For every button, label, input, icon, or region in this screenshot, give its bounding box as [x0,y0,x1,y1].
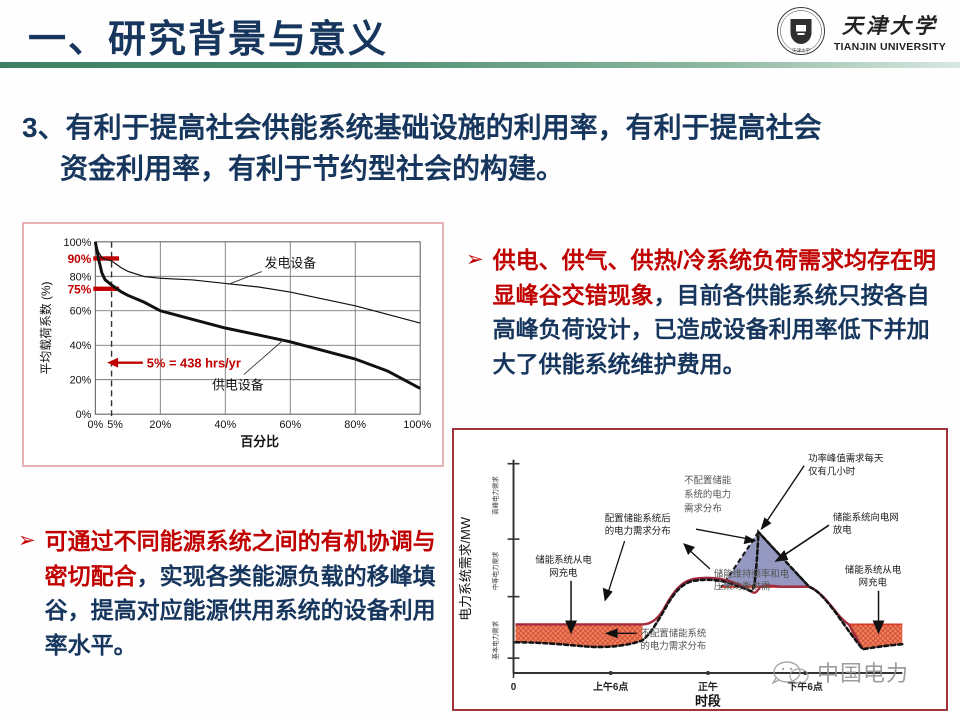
watermark: 中国电力 [772,656,909,688]
slide: 一、研究背景与意义 天津大学 天津大学 TIANJIN UNIVERSITY 3… [0,0,960,720]
svg-text:100%: 100% [403,419,431,431]
svg-text:40%: 40% [70,340,92,352]
note-coordination: ➢ 可通过不同能源系统之间的有机协调与密切配合，实现各类能源负载的移峰填谷，提高… [18,524,450,662]
logo-name-en: TIANJIN UNIVERSITY [834,41,946,53]
annotation-charge-right-line2: 网充电 [859,577,888,588]
svg-text:100%: 100% [64,237,92,249]
svg-text:90%: 90% [68,252,92,266]
bullet-arrow-icon: ➢ [18,525,36,557]
svg-text:天津大学: 天津大学 [792,47,810,54]
diagram-ytick-mid: 中等电力需求 [491,551,500,590]
svg-text:0%: 0% [87,419,103,431]
note-right-text: 供电、供气、供热/冷系统负荷需求均存在明显峰谷交错现象，目前各供能系统只按各自高… [493,243,950,381]
annotation-discharge-line1: 储能系统向电网 [833,511,899,522]
load-duration-chart: 100% 80% 60% 40% 20% 0% 90% 75% 0% 5% 20… [22,222,444,467]
annotation-charge-left-line2: 网充电 [549,567,578,578]
load-duration-chart-svg: 100% 80% 60% 40% 20% 0% 90% 75% 0% 5% 20… [24,224,442,467]
lead-line-1: 3、有利于提高社会供能系统基础设施的利用率，有利于提高社会 [22,112,822,143]
annotation-no-storage-bottom-line1: 不配置储能系统 [640,627,706,638]
svg-text:60%: 60% [70,306,92,318]
svg-text:60%: 60% [279,419,301,431]
svg-text:20%: 20% [149,419,171,431]
diagram-ytick-base: 基本电力需求 [491,620,500,659]
annotation-with-storage-line1: 配置储能系统后 [605,512,671,523]
diagram-y-ticks: 高峰电力需求 中等电力需求 基本电力需求 [491,476,500,660]
annotation-no-storage-bottom-line2: 的电力需求分布 [640,640,706,651]
diagram-xtick-0: 0 [511,682,517,693]
diagram-ytick-peak: 高峰电力需求 [491,476,500,515]
series-label-generation: 发电设备 [265,256,317,271]
watermark-text: 中国电力 [817,656,909,688]
svg-text:40%: 40% [214,419,236,431]
logo-text: 天津大学 TIANJIN UNIVERSITY [834,10,946,53]
annotation-discharge-line2: 放电 [833,524,852,535]
annotation-peak-demand-line1: 功率峰值需求每天 [808,453,884,464]
university-logo: 天津大学 天津大学 TIANJIN UNIVERSITY [776,6,946,56]
annotation-frequency-line1: 储能维持频率和电 [714,568,790,579]
svg-text:5%: 5% [107,419,123,431]
svg-text:20%: 20% [70,375,92,387]
chart-annotation-text: 5% = 438 hrs/yr [147,356,241,371]
annotation-peak-demand-line2: 仅有几小时 [808,466,856,477]
tianjin-university-seal-icon: 天津大学 [776,6,826,56]
slide-header: 一、研究背景与意义 天津大学 天津大学 TIANJIN UNIVERSITY [0,0,960,72]
note-bottom-text: 可通过不同能源系统之间的有机协调与密切配合，实现各类能源负载的移峰填谷，提高对应… [45,524,450,662]
header-divider [0,62,960,68]
chart-x-ticks: 0% 5% 20% 40% 60% 80% 100% [87,419,431,431]
series-label-supply: 供电设备 [212,377,264,392]
diagram-ylabel: 电力系统需求/MW [458,516,473,621]
svg-text:75%: 75% [68,282,92,296]
annotation-charge-left-line1: 储能系统从电 [535,554,592,565]
annotation-charge-right-line1: 储能系统从电 [845,564,902,575]
lead-line-2: 资金利用率，有利于节约型社会的构建。 [22,149,942,190]
annotation-no-storage-top-line3: 需求分布 [684,502,722,513]
diagram-xtick-6am: 上午6点 [593,680,628,693]
lead-paragraph: 3、有利于提高社会供能系统基础设施的利用率，有利于提高社会 资金利用率，有利于节… [22,108,942,189]
wechat-icon [772,658,812,686]
annotation-no-storage-top-line1: 不配置储能 [684,475,732,486]
svg-text:80%: 80% [344,419,366,431]
chart-ylabel: 平均载荷系数 (%) [39,281,53,374]
note-peak-valley: ➢ 供电、供气、供热/冷系统负荷需求均存在明显峰谷交错现象，目前各供能系统只按各… [466,243,950,381]
page-title: 一、研究背景与意义 [28,8,388,63]
annotation-frequency-line2: 压来均衡供需 [714,581,770,592]
charge-area-left [515,624,642,647]
bullet-arrow-icon: ➢ [466,244,484,276]
logo-name-cn: 天津大学 [842,10,938,40]
chart-xlabel: 百分比 [240,434,279,449]
diagram-xlabel: 时段 [695,694,721,709]
diagram-xtick-noon: 正午 [698,680,718,693]
annotation-no-storage-top-line2: 系统的电力 [684,488,731,499]
annotation-with-storage-line2: 的电力需求分布 [605,525,671,536]
